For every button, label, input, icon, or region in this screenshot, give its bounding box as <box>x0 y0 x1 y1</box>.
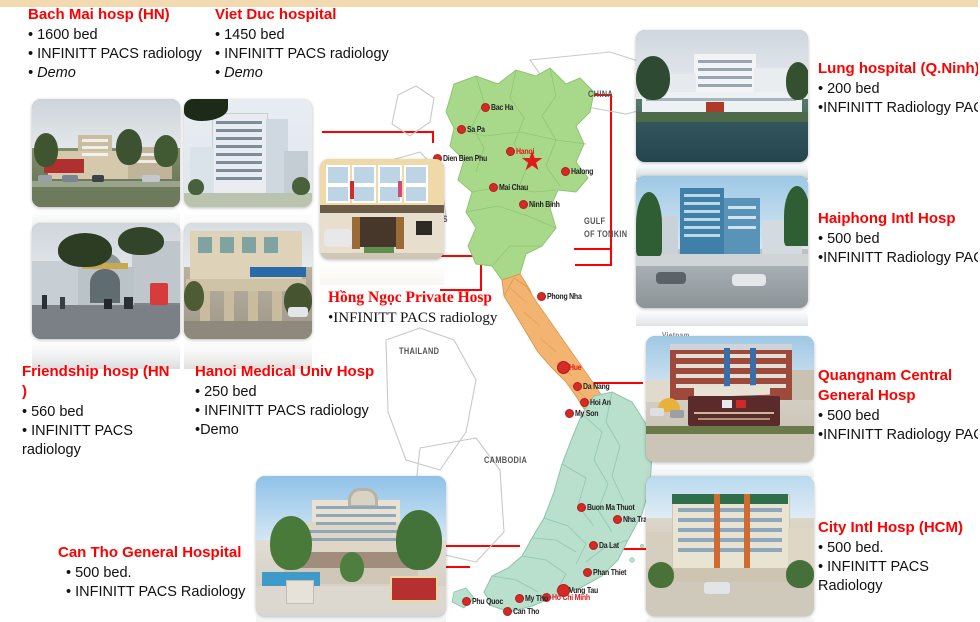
map-city-dot <box>577 503 586 512</box>
map-city-dot <box>580 398 589 407</box>
callout-title: Quangnam Central General Hosp <box>818 366 980 406</box>
callout-title: Hanoi Medical Univ Hosp <box>195 362 395 382</box>
slide-canvas: ★ Bac HaSa PaDien Bien PhuHanoiHalongMai… <box>0 0 980 622</box>
callout-line: • Demo <box>28 64 228 83</box>
callout-line: • 200 bed <box>818 80 980 99</box>
callout-line: • 500 bed. <box>58 564 268 583</box>
map-city-label: Da Nang <box>583 381 610 391</box>
map-city-label: My Son <box>575 408 598 418</box>
callout-line: • 500 bed <box>818 407 980 426</box>
callout-line: • 1450 bed <box>215 26 415 45</box>
map-city-label: Sa Pa <box>467 124 485 134</box>
callout-title: Can Tho General Hospital <box>58 543 268 563</box>
country-label-china: CHINA <box>588 89 613 99</box>
map-city-label: Mai Chau <box>499 182 528 192</box>
map-city-label: Hoi An <box>590 397 611 407</box>
callout-haiphong: Haiphong Intl Hosp • 500 bed •INFINITT R… <box>818 209 980 268</box>
map-city-label: Phan Thiet <box>593 567 626 577</box>
label-gulf-of-tonkin-2: OF TONKIN <box>584 229 627 239</box>
callout-line: • INFINITT PACS radiology <box>22 422 174 460</box>
map-city-label: Da Lat <box>599 540 619 550</box>
map-city-dot <box>561 167 570 176</box>
map-city-label: Hue <box>569 362 581 372</box>
map-city-dot <box>462 597 471 606</box>
callout-line: • INFINITT PACS radiology <box>215 45 415 64</box>
callout-title: Hồng Ngọc Private Hosp <box>328 288 538 308</box>
map-city-label: Ho Chi Minh <box>552 592 590 602</box>
map-city-dot <box>583 568 592 577</box>
map-city-label: Ninh Binh <box>529 199 560 209</box>
country-label-cambodia: CAMBODIA <box>484 455 527 465</box>
map-city-dot <box>557 361 570 374</box>
map-city-dot <box>503 607 512 616</box>
callout-viet-duc: Viet Duc hospital • 1450 bed • INFINITT … <box>215 5 415 83</box>
callout-line: •Demo <box>195 421 395 440</box>
photo-lung-hospital <box>636 30 808 162</box>
callout-line: • 560 bed <box>22 403 174 422</box>
callout-hanoi-medical: Hanoi Medical Univ Hosp • 250 bed • INFI… <box>195 362 395 440</box>
callout-line: • 250 bed <box>195 383 395 402</box>
map-city-dot <box>565 409 574 418</box>
photo-hanoi-medical <box>184 223 312 339</box>
callout-line: •INFINITT Radiology PACS <box>818 99 980 118</box>
photo-quangnam <box>646 336 814 462</box>
map-city-dot <box>481 103 490 112</box>
callout-can-tho: Can Tho General Hospital • 500 bed. • IN… <box>58 543 268 602</box>
callout-quangnam: Quangnam Central General Hosp • 500 bed … <box>818 366 980 445</box>
photo-bach-mai <box>32 99 180 207</box>
map-city-dot <box>519 200 528 209</box>
map-city-label: Can Tho <box>513 606 539 616</box>
callout-title: Viet Duc hospital <box>215 5 415 25</box>
photo-viet-duc <box>184 99 312 207</box>
photo-hong-ngoc <box>320 159 444 259</box>
callout-line: •INFINITT Radiology PACS <box>818 249 980 268</box>
map-city-label: Phu Quoc <box>472 596 503 606</box>
callout-line: •INFINITT PACS radiology <box>328 309 538 329</box>
map-city-dot <box>457 125 466 134</box>
callout-line: • INFINITT PACS Radiology <box>818 558 968 596</box>
label-gulf-of-tonkin-1: GULF <box>584 216 605 226</box>
map-city-label: Bac Ha <box>491 102 513 112</box>
callout-title: Friendship hosp (HN ) <box>22 362 174 402</box>
map-city-label: Dien Bien Phu <box>443 153 487 163</box>
map-city-dot <box>589 541 598 550</box>
map-city-label: Halong <box>571 166 593 176</box>
map-city-dot <box>573 382 582 391</box>
callout-hong-ngoc: Hồng Ngọc Private Hosp •INFINITT PACS ra… <box>328 288 538 329</box>
callout-city-intl: City Intl Hosp (HCM) • 500 bed. • INFINI… <box>818 518 968 596</box>
map-city-dot <box>489 183 498 192</box>
callout-line: • 1600 bed <box>28 26 228 45</box>
photo-friendship <box>32 223 180 339</box>
callout-line: •INFINITT Radiology PACS <box>818 426 980 445</box>
callout-line: • Demo <box>215 64 415 83</box>
map-city-dot <box>515 594 524 603</box>
callout-line: • INFINITT PACS radiology <box>195 402 395 421</box>
map-city-label: My Tho <box>525 593 548 603</box>
callout-title: Bach Mai hosp (HN) <box>28 5 228 25</box>
callout-title: City Intl Hosp (HCM) <box>818 518 968 538</box>
callout-line: • INFINITT PACS radiology <box>28 45 228 64</box>
callout-lung-hospital: Lung hospital (Q.Ninh) • 200 bed •INFINI… <box>818 59 980 118</box>
photo-haiphong <box>636 176 808 308</box>
callout-line: • INFINITT PACS Radiology <box>58 583 268 602</box>
map-city-dot <box>506 147 515 156</box>
callout-bach-mai: Bach Mai hosp (HN) • 1600 bed • INFINITT… <box>28 5 228 83</box>
map-city-label: Buon Ma Thuot <box>587 502 635 512</box>
callout-line: • 500 bed. <box>818 539 968 558</box>
map-city-label: Hanoi <box>516 146 534 156</box>
country-label-thailand: THAILAND <box>399 346 439 356</box>
callout-line: • 500 bed <box>818 230 980 249</box>
callout-title: Haiphong Intl Hosp <box>818 209 980 229</box>
map-city-dot <box>613 515 622 524</box>
callout-friendship: Friendship hosp (HN ) • 560 bed • INFINI… <box>22 362 174 460</box>
callout-title: Lung hospital (Q.Ninh) <box>818 59 980 79</box>
photo-city-intl <box>646 476 814 616</box>
map-city-label: Phong Nha <box>547 291 582 301</box>
photo-can-tho <box>256 476 446 616</box>
